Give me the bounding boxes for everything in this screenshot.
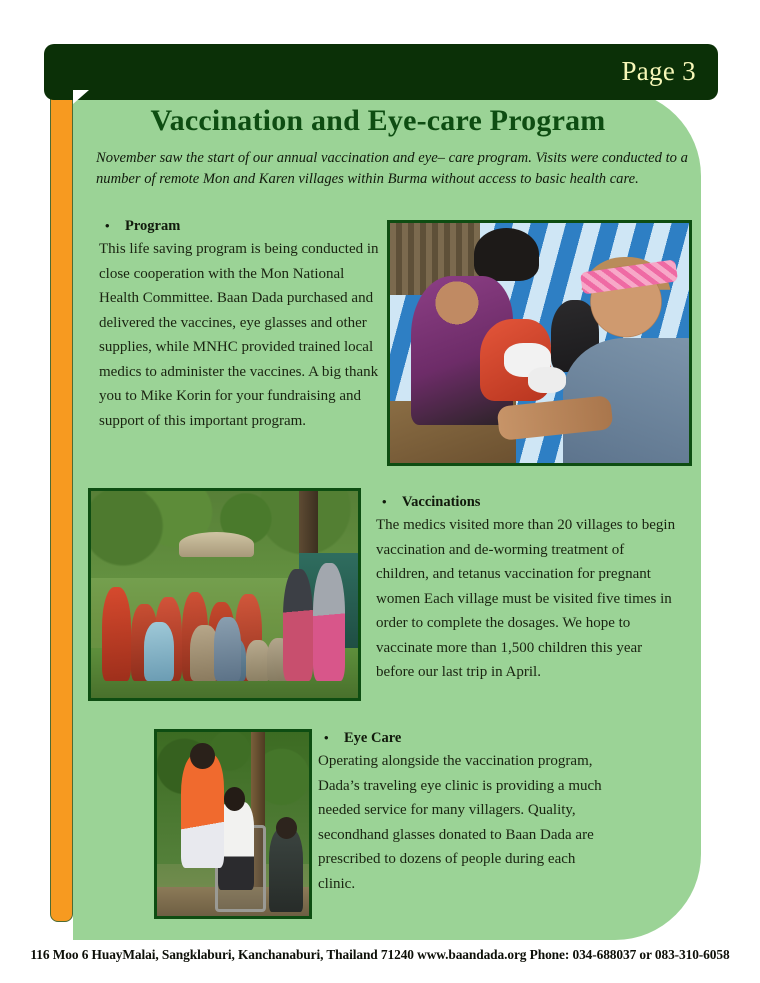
photo-detail-head xyxy=(224,787,245,811)
section-program-heading-text: Program xyxy=(125,218,180,234)
photo-detail-adult xyxy=(313,563,345,681)
page-title: Vaccination and Eye-care Program xyxy=(73,104,683,138)
section-vaccinations-body: The medics visited more than 20 villages… xyxy=(376,513,676,685)
bullet-icon: • xyxy=(382,493,387,510)
section-program: • Program This life saving program is be… xyxy=(99,218,381,433)
vaccination-photo xyxy=(387,220,692,466)
intro-paragraph: November saw the start of our annual vac… xyxy=(96,148,700,189)
footer-contact-line: 116 Moo 6 HuayMalai, Sangklaburi, Kancha… xyxy=(0,947,760,963)
bullet-icon: • xyxy=(105,217,110,234)
photo-detail-children-row xyxy=(91,553,358,681)
section-vaccinations: • Vaccinations The medics visited more t… xyxy=(376,494,676,685)
photo-detail-adult xyxy=(283,569,312,682)
eye-clinic-photo-scene xyxy=(157,732,309,916)
section-vaccinations-heading-text: Vaccinations xyxy=(402,494,480,510)
photo-detail-head xyxy=(276,817,297,839)
bullet-icon: • xyxy=(324,729,329,746)
header-bar: Page 3 xyxy=(44,44,718,100)
photo-detail-child xyxy=(102,587,131,682)
photo-detail-adult xyxy=(214,617,241,681)
photo-detail-head xyxy=(190,743,214,769)
photo-detail-glove-2 xyxy=(528,367,567,393)
newsletter-page: Page 3 Vaccination and Eye-care Program … xyxy=(0,0,760,983)
photo-detail-child xyxy=(144,622,173,681)
section-eye-care-heading: • Eye Care xyxy=(318,730,616,747)
section-eye-care-heading-text: Eye Care xyxy=(344,730,401,746)
photo-detail-clinician xyxy=(181,754,224,868)
section-eye-care-body: Operating alongside the vaccination prog… xyxy=(318,749,616,896)
section-vaccinations-heading: • Vaccinations xyxy=(376,494,676,511)
section-eye-care: • Eye Care Operating alongside the vacci… xyxy=(318,730,616,896)
orange-accent-bar xyxy=(50,90,73,922)
section-program-body: This life saving program is being conduc… xyxy=(99,237,381,433)
page-number: Page 3 xyxy=(621,52,696,90)
photo-detail-person-head xyxy=(474,228,540,281)
section-program-heading: • Program xyxy=(99,218,381,235)
children-group-photo xyxy=(88,488,361,701)
photo-detail-seated-woman xyxy=(269,828,302,913)
children-group-photo-scene xyxy=(91,491,358,698)
vaccination-photo-scene xyxy=(390,223,689,463)
eye-clinic-photo xyxy=(154,729,312,919)
